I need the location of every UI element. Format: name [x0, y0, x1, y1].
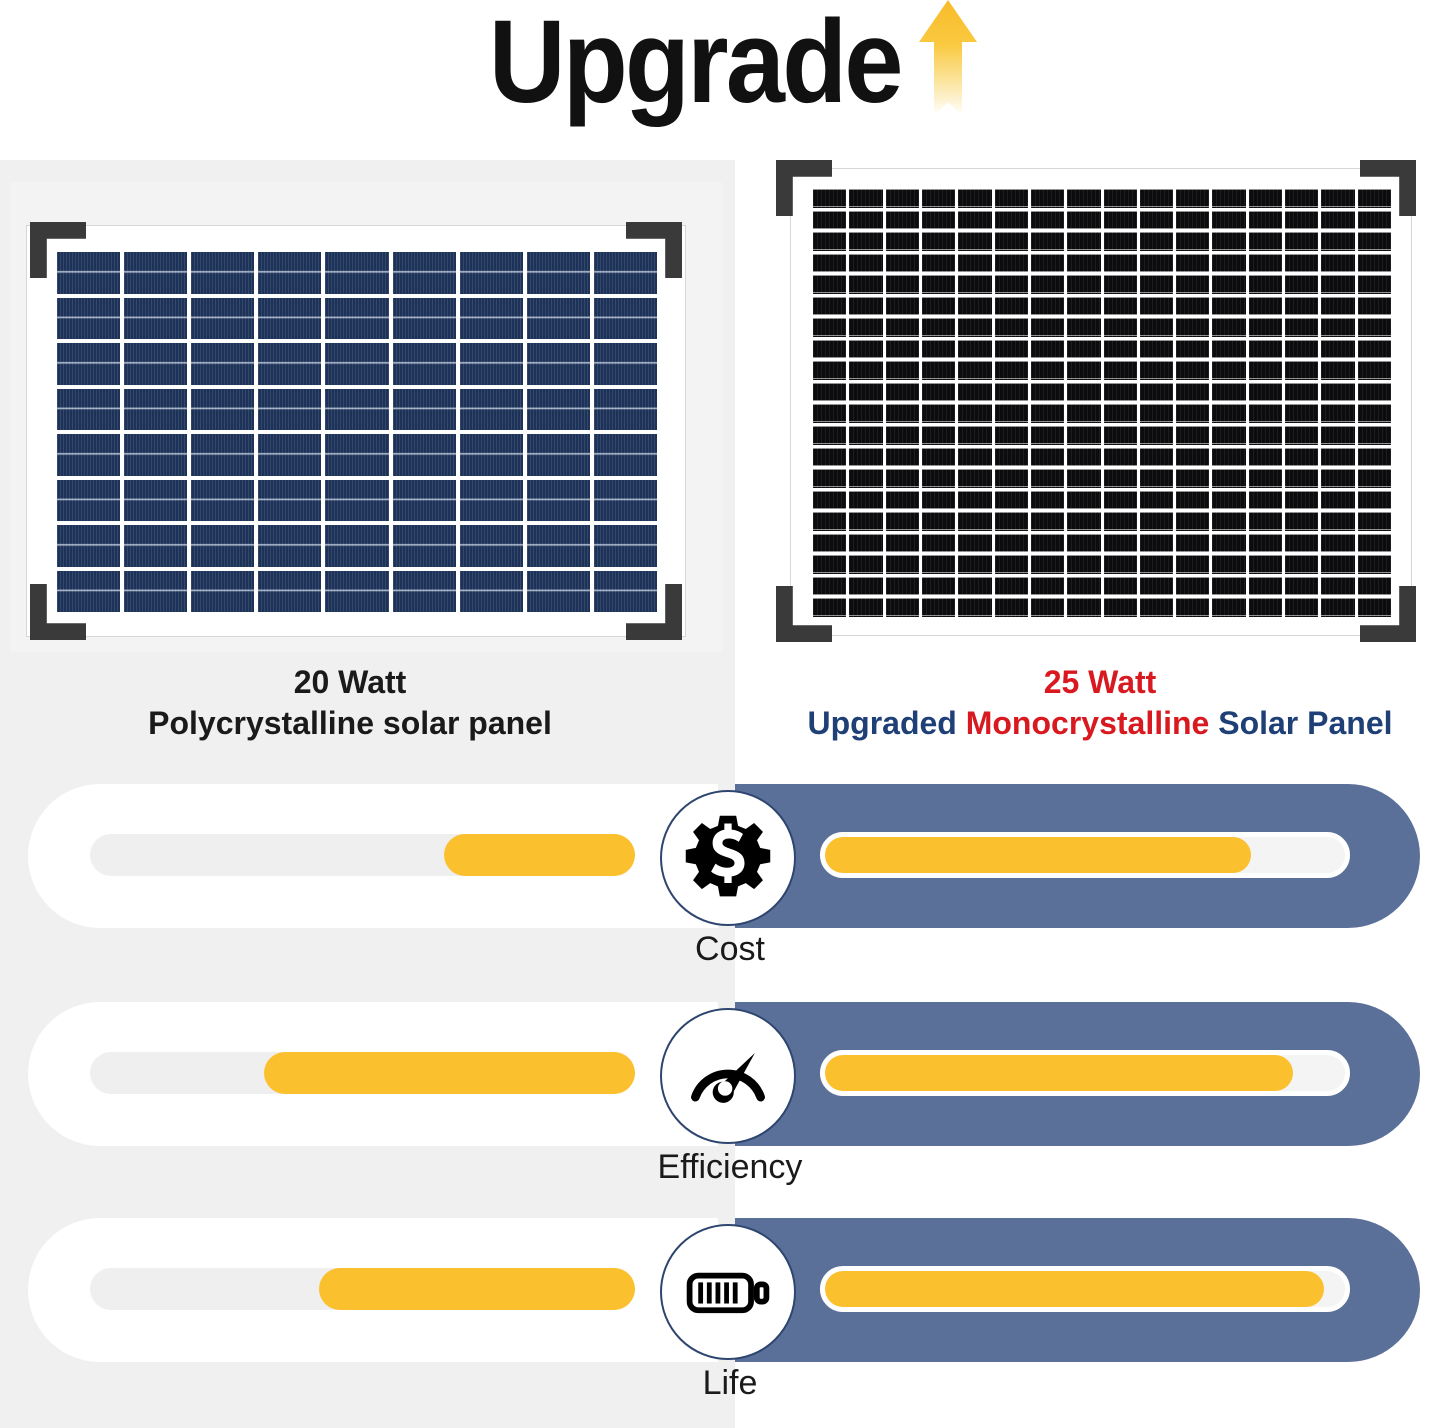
- efficiency-left-track[interactable]: [90, 1052, 635, 1094]
- cost-right-fill: [825, 837, 1251, 873]
- cost-left-track[interactable]: [90, 834, 635, 876]
- life-left-fill: [319, 1268, 635, 1310]
- cost-row-label: Cost: [600, 930, 860, 969]
- polycrystalline-panel-image: [26, 225, 686, 637]
- dollar-gear-icon: [680, 810, 776, 906]
- page-title: Upgrade: [0, 0, 1445, 132]
- cost-right-track[interactable]: [820, 832, 1350, 878]
- efficiency-row-label: Efficiency: [600, 1148, 860, 1187]
- right-wattage: 25 Watt: [770, 662, 1430, 703]
- efficiency-icon-badge: [660, 1008, 796, 1144]
- life-icon-badge: [660, 1224, 796, 1360]
- left-product-caption: 20 Watt Polycrystalline solar panel: [40, 662, 660, 744]
- cost-right-pill: [735, 784, 1420, 928]
- efficiency-right-track[interactable]: [820, 1050, 1350, 1096]
- mono-cell-grid: [813, 189, 1391, 617]
- life-row-label: Life: [600, 1364, 860, 1403]
- cost-left-fill: [444, 834, 635, 876]
- right-product-caption: 25 Watt Upgraded Monocrystalline Solar P…: [770, 662, 1430, 744]
- left-wattage: 20 Watt: [40, 662, 660, 703]
- efficiency-right-fill: [825, 1055, 1293, 1091]
- battery-icon: [680, 1244, 776, 1340]
- right-description-highlight: Monocrystalline: [966, 705, 1210, 741]
- cost-icon-badge: [660, 790, 796, 926]
- efficiency-right-pill: [735, 1002, 1420, 1146]
- life-right-track[interactable]: [820, 1266, 1350, 1312]
- poly-cell-grid: [57, 252, 657, 612]
- monocrystalline-panel-image: [790, 168, 1412, 636]
- life-left-pill: [28, 1218, 718, 1362]
- efficiency-left-fill: [264, 1052, 635, 1094]
- page-title-text: Upgrade: [489, 3, 901, 121]
- life-left-track[interactable]: [90, 1268, 635, 1310]
- speedometer-icon: [680, 1028, 776, 1124]
- cost-left-pill: [28, 784, 718, 928]
- right-description-prefix: Upgraded: [807, 705, 965, 741]
- life-right-pill: [735, 1218, 1420, 1362]
- efficiency-left-pill: [28, 1002, 718, 1146]
- up-arrow-icon: [917, 0, 979, 130]
- comparison-infographic: Upgrade: [0, 0, 1445, 1428]
- right-description-suffix: Solar Panel: [1209, 705, 1392, 741]
- left-description: Polycrystalline solar panel: [40, 703, 660, 744]
- life-right-fill: [825, 1271, 1324, 1307]
